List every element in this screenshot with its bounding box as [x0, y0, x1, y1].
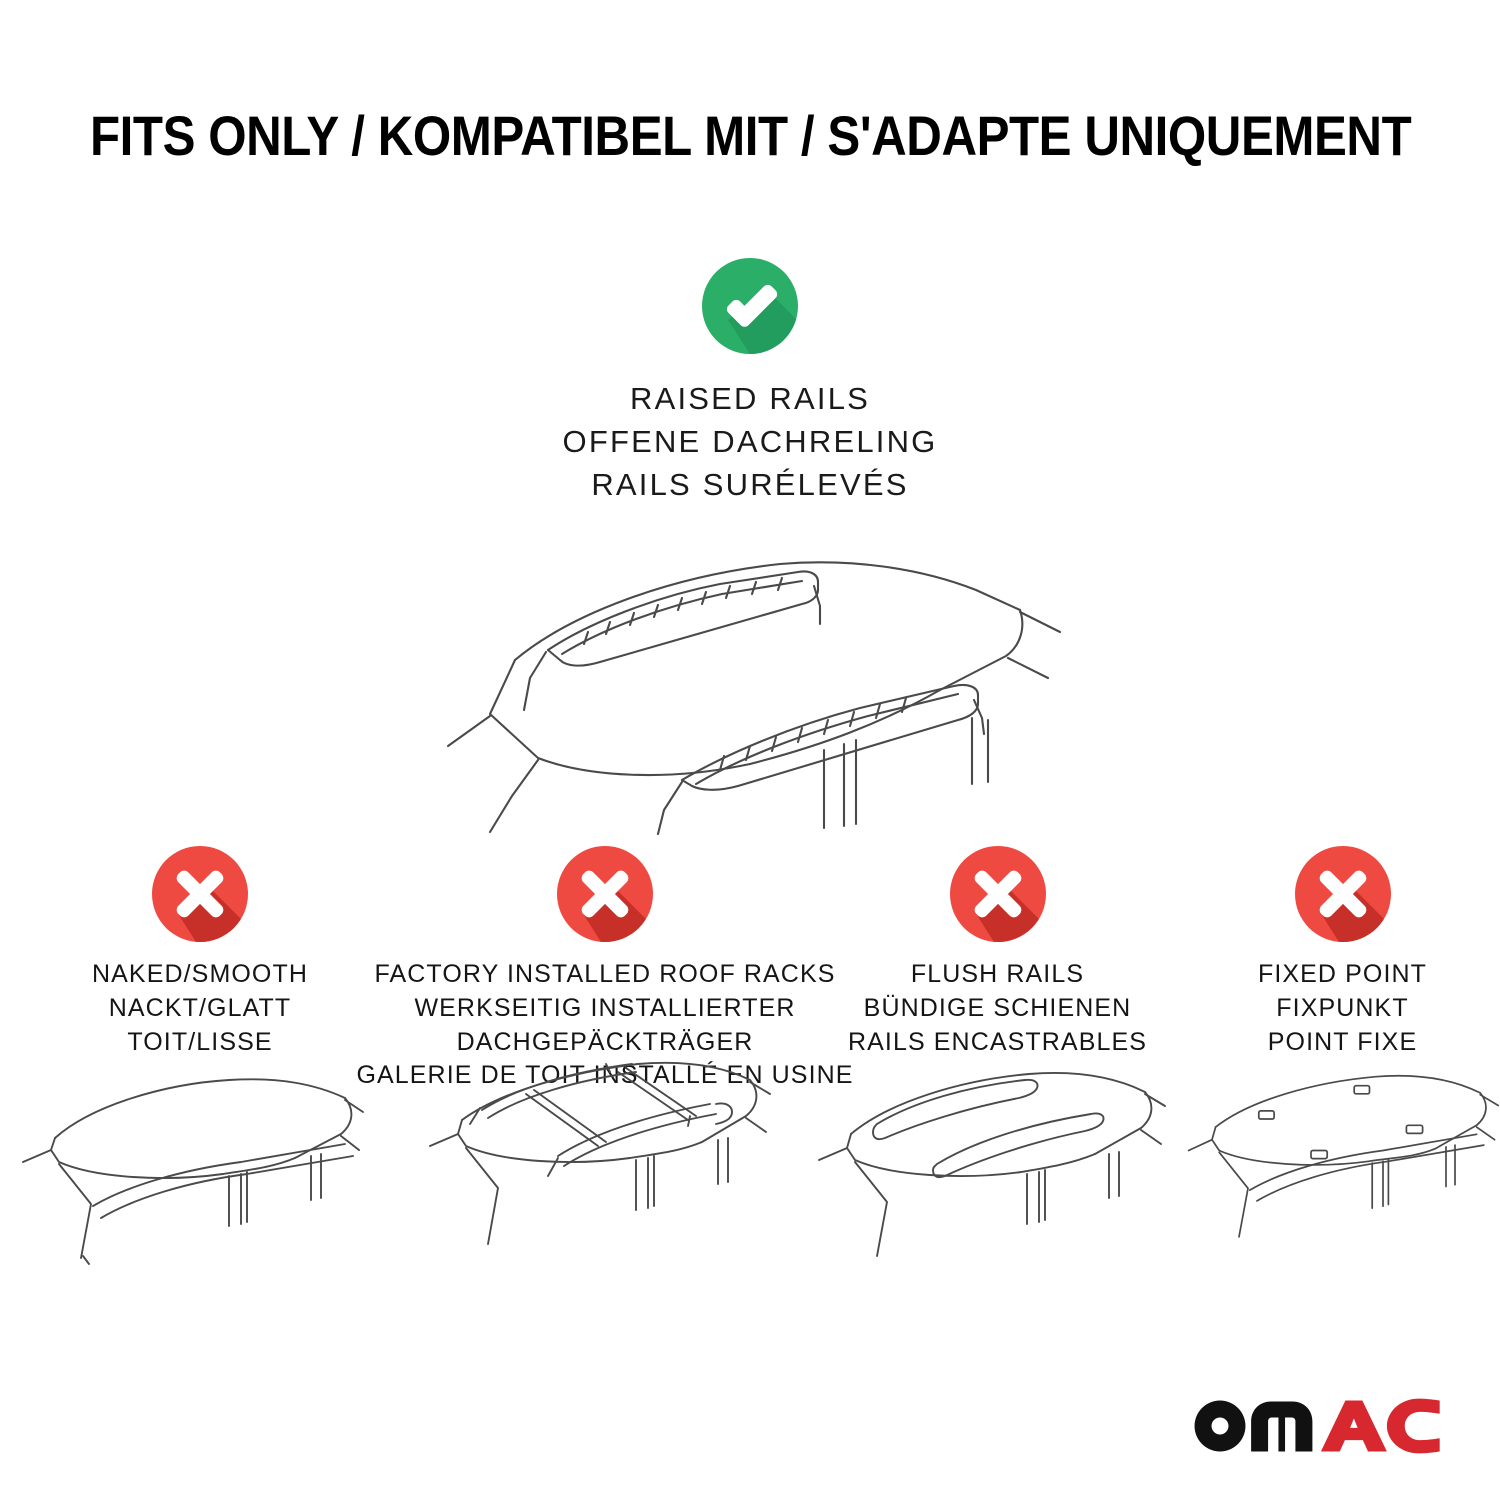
car-roof-factory-roof-racks-illustration — [420, 1058, 790, 1288]
caption-line-fr: RAILS ENCASTRABLES — [848, 1026, 1147, 1060]
compatible-label-fr: RAILS SURÉLEVÉS — [563, 464, 938, 507]
caption-line-fr: TOIT/LISSE — [92, 1026, 308, 1060]
incompatible-caption: NAKED/SMOOTH NACKT/GLATT TOIT/LISSE — [92, 958, 308, 1059]
fitment-infographic: FITS ONLY / KOMPATIBEL MIT / S'ADAPTE UN… — [0, 0, 1500, 1500]
incompatible-caption: FLUSH RAILS BÜNDIGE SCHIENEN RAILS ENCAS… — [848, 958, 1147, 1059]
incompatible-caption: FIXED POINT FIXPUNKT POINT FIXE — [1258, 958, 1427, 1059]
caption-line-en: FIXED POINT — [1258, 958, 1427, 992]
incompatible-item-flush-rails: FLUSH RAILS BÜNDIGE SCHIENEN RAILS ENCAS… — [810, 846, 1185, 1093]
incompatible-section: NAKED/SMOOTH NACKT/GLATT TOIT/LISSE FACT… — [0, 846, 1500, 1093]
x-circle-icon — [950, 846, 1046, 942]
caption-line-en: FLUSH RAILS — [848, 958, 1147, 992]
caption-line-de-2: DACHGEPÄCKTRÄGER — [356, 1026, 853, 1060]
compatible-section: RAISED RAILS OFFENE DACHRELING RAILS SUR… — [0, 258, 1500, 838]
compatible-caption: RAISED RAILS OFFENE DACHRELING RAILS SUR… — [563, 378, 938, 506]
page-title: FITS ONLY / KOMPATIBEL MIT / S'ADAPTE UN… — [90, 108, 1410, 164]
incompatible-item-factory-roof-racks: FACTORY INSTALLED ROOF RACKS WERKSEITIG … — [400, 846, 810, 1093]
car-roof-naked-smooth-illustration — [15, 1058, 385, 1288]
caption-line-de-1: WERKSEITIG INSTALLIERTER — [356, 992, 853, 1026]
omac-logo-icon — [1187, 1393, 1442, 1459]
caption-line-en: NAKED/SMOOTH — [92, 958, 308, 992]
car-roof-flush-rails-illustration — [813, 1058, 1183, 1288]
caption-line-fr: POINT FIXE — [1258, 1026, 1427, 1060]
x-circle-icon — [1295, 846, 1391, 942]
compatible-label-en: RAISED RAILS — [563, 378, 938, 421]
caption-line-de: FIXPUNKT — [1258, 992, 1427, 1026]
compatible-label-de: OFFENE DACHRELING — [563, 421, 938, 464]
incompatible-illustrations — [0, 1058, 1500, 1288]
incompatible-item-fixed-point: FIXED POINT FIXPUNKT POINT FIXE — [1185, 846, 1500, 1093]
caption-line-de: BÜNDIGE SCHIENEN — [848, 992, 1147, 1026]
caption-line-de: NACKT/GLATT — [92, 992, 308, 1026]
car-roof-raised-rails-illustration — [420, 528, 1080, 838]
car-roof-fixed-point-illustration — [1185, 1058, 1500, 1288]
x-circle-icon — [152, 846, 248, 942]
brand-logo: OMAC — [1187, 1390, 1442, 1462]
check-circle-icon — [702, 258, 798, 354]
x-circle-icon — [557, 846, 653, 942]
incompatible-item-naked-smooth: NAKED/SMOOTH NACKT/GLATT TOIT/LISSE — [0, 846, 400, 1093]
caption-line-en: FACTORY INSTALLED ROOF RACKS — [356, 958, 853, 992]
